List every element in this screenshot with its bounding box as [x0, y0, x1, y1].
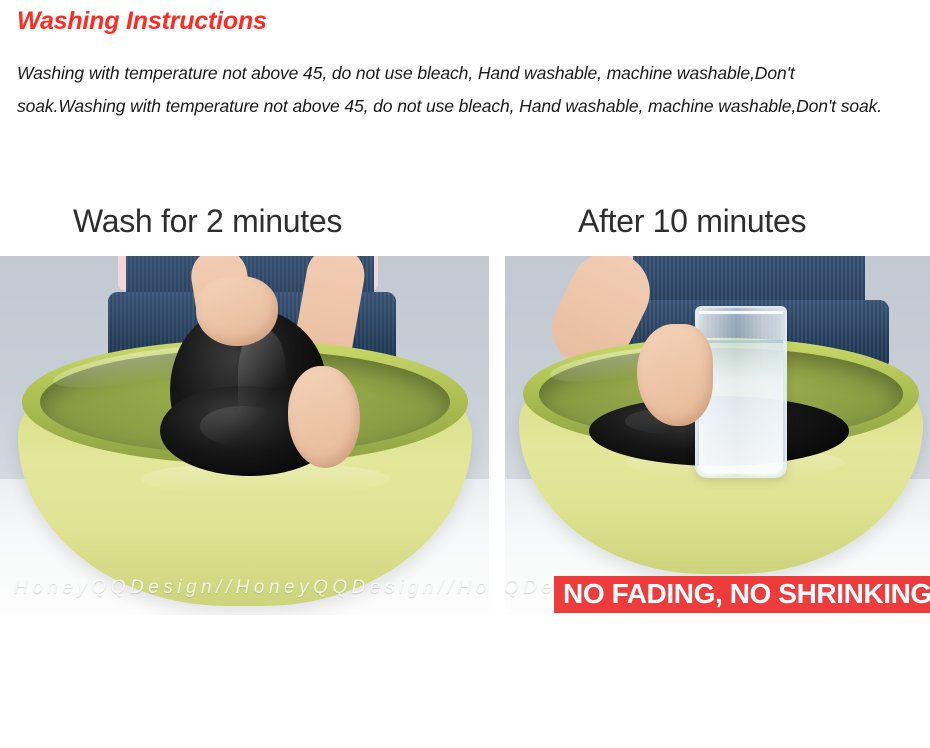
washing-instructions-page: Washing Instructions Washing with temper… — [0, 0, 930, 748]
photo-wash-2-minutes: HoneyQQDesign//HoneyQQDesign//HoneyQQDes… — [0, 256, 489, 615]
no-fading-banner: NO FADING, NO SHRINKING — [554, 576, 930, 613]
page-title: Washing Instructions — [17, 7, 267, 36]
garment-highlight-2 — [200, 406, 284, 446]
right-hand — [288, 366, 360, 468]
caption-after-10-minutes: After 10 minutes — [578, 203, 806, 240]
photo-after-10-minutes: HoneyQQDesign//HoneyQQDesign//HoneyQQDes… — [505, 256, 930, 615]
glass-rim-line — [699, 311, 783, 314]
glass-water-line — [699, 340, 783, 343]
left-hand — [196, 276, 278, 346]
care-instructions-text: Washing with temperature not above 45, d… — [17, 57, 897, 123]
caption-wash-2-minutes: Wash for 2 minutes — [73, 203, 342, 240]
no-fading-banner-text: NO FADING, NO SHRINKING — [563, 578, 930, 610]
hand-holding-glass — [637, 324, 713, 426]
